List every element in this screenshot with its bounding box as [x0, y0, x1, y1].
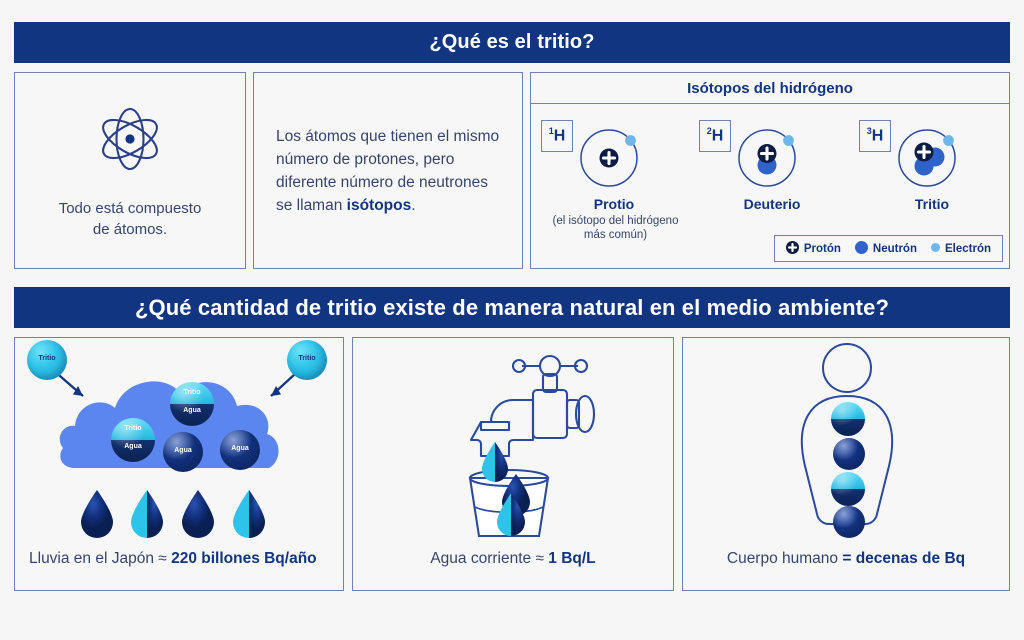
glass-drop-tritiated: [493, 491, 529, 539]
raindrop-water-2: [178, 488, 218, 540]
isotope-note-protio-line-1: (el isótopo del hidrógeno: [533, 214, 698, 228]
body-sphere-tritiated-2: [831, 472, 865, 506]
legend-label-electron: Electrón: [945, 243, 991, 255]
cloud-sphere-3-bottom-label: Agua: [163, 447, 203, 454]
section-2-panels: Tritio Tritio Tritio Agua Tritio Agua: [14, 337, 1010, 591]
isotopes-heading: Isótopos del hidrógeno: [531, 73, 1009, 104]
cloud-sphere-2-top-label: Tritio: [111, 425, 155, 432]
body-sphere-water-1: [833, 438, 865, 470]
isotope-note-protio-line-2: más común): [533, 228, 698, 242]
raindrop-tritiated-1: [127, 488, 167, 540]
panel-isotope-definition: Los átomos que tienen el mismo número de…: [253, 72, 523, 269]
isotope-badge-tritio: 3H: [859, 120, 891, 152]
badge-symbol-tritio: H: [872, 128, 884, 145]
tap-caption-plain: Agua corriente ≈: [430, 550, 548, 567]
cloud-sphere-water-2: Agua: [220, 430, 260, 470]
cloud-sphere-water-1: Agua: [163, 432, 203, 472]
atoms-caption: Todo está compuesto de átomos.: [59, 198, 202, 240]
panel-human-body: Cuerpo humano = decenas de Bq: [682, 337, 1010, 591]
isotope-badge-deuterio: 2H: [699, 120, 731, 152]
atom-diagram-protio: [575, 118, 651, 194]
tap-caption-bold: 1 Bq/L: [548, 550, 595, 567]
tritium-sphere-left: Tritio: [27, 340, 67, 380]
tritium-sphere-right-label: Tritio: [287, 355, 327, 362]
rain-caption-bold: 220 billones Bq/año: [171, 550, 317, 567]
legend-item-neutron: Neutrón: [855, 241, 917, 257]
legend-item-electron: Electrón: [931, 243, 991, 255]
section-2-banner: ¿Qué cantidad de tritio existe de manera…: [14, 287, 1010, 328]
body-sphere-tritiated-1: [831, 402, 865, 436]
section-2-title: ¿Qué cantidad de tritio existe de manera…: [135, 295, 889, 321]
panel-rain-japan: Tritio Tritio Tritio Agua Tritio Agua: [14, 337, 344, 591]
isotopes-body: 1H Protio (el isótopo del hidrógeno: [531, 104, 1009, 268]
panel-everything-made-of-atoms: Todo está compuesto de átomos.: [14, 72, 246, 269]
atom-diagram-deuterio: [733, 118, 809, 194]
definition-text-after: .: [411, 197, 415, 214]
rain-caption-plain: Lluvia en el Japón ≈: [29, 550, 171, 567]
badge-symbol-protio: H: [554, 128, 566, 145]
cloud-sphere-1-bottom-label: Agua: [170, 407, 214, 414]
atom-diagram-tritio: [893, 118, 969, 194]
neutron-icon: [855, 241, 868, 257]
rain-caption: Lluvia en el Japón ≈ 220 billones Bq/año: [15, 550, 343, 568]
tap-caption: Agua corriente ≈ 1 Bq/L: [353, 550, 673, 568]
isotope-definition-text: Los átomos que tienen el mismo número de…: [254, 125, 522, 217]
definition-bold-term: isótopos: [347, 197, 412, 214]
isotope-note-protio: (el isótopo del hidrógeno más común): [533, 214, 698, 242]
raindrop-tritiated-2: [229, 488, 269, 540]
cloud-sphere-2-bottom-label: Agua: [111, 443, 155, 450]
body-caption-plain: Cuerpo humano: [727, 550, 842, 567]
isotope-name-tritio: Tritio: [857, 196, 1007, 212]
legend-label-proton: Protón: [804, 243, 841, 255]
legend-item-proton: Protón: [786, 241, 841, 257]
tritium-sphere-right: Tritio: [287, 340, 327, 380]
cloud-sphere-tritiated-water-1: Tritio Agua: [170, 382, 214, 426]
panel-tap-water: Agua corriente ≈ 1 Bq/L: [352, 337, 674, 591]
raindrop-water-1: [77, 488, 117, 540]
tritium-sphere-left-label: Tritio: [27, 355, 67, 362]
particle-legend: Protón Neutrón Electrón: [774, 235, 1003, 262]
badge-symbol-deuterio: H: [712, 128, 724, 145]
electron-icon: [931, 243, 940, 255]
body-sphere-water-2: [833, 506, 865, 538]
faucet-illustration: [353, 338, 673, 538]
proton-icon: [786, 241, 799, 257]
human-body-illustration: [683, 338, 1009, 538]
atoms-caption-line-2: de átomos.: [59, 219, 202, 240]
isotope-badge-protio: 1H: [541, 120, 573, 152]
panel-hydrogen-isotopes: Isótopos del hidrógeno 1H: [530, 72, 1010, 269]
cloud-sphere-4-bottom-label: Agua: [220, 445, 260, 452]
isotope-name-protio: Protio: [539, 196, 689, 212]
infographic-page: ¿Qué es el tritio? Todo está compuesto d…: [0, 22, 1024, 640]
rain-cloud-illustration: Tritio Tritio Tritio Agua Tritio Agua: [15, 338, 343, 538]
cloud-sphere-tritiated-water-2: Tritio Agua: [111, 418, 155, 462]
body-caption: Cuerpo humano = decenas de Bq: [683, 550, 1009, 568]
section-1-panels: Todo está compuesto de átomos. Los átomo…: [14, 72, 1010, 269]
section-1-title: ¿Qué es el tritio?: [429, 31, 594, 54]
body-caption-bold: = decenas de Bq: [842, 550, 965, 567]
atom-icon: [92, 101, 168, 182]
cloud-sphere-1-top-label: Tritio: [170, 389, 214, 396]
section-1-banner: ¿Qué es el tritio?: [14, 22, 1010, 63]
legend-label-neutron: Neutrón: [873, 243, 917, 255]
atoms-caption-line-1: Todo está compuesto: [59, 198, 202, 219]
isotope-name-deuterio: Deuterio: [697, 196, 847, 212]
isotope-protio: 1H Protio (el isótopo del hidrógeno: [539, 104, 699, 268]
